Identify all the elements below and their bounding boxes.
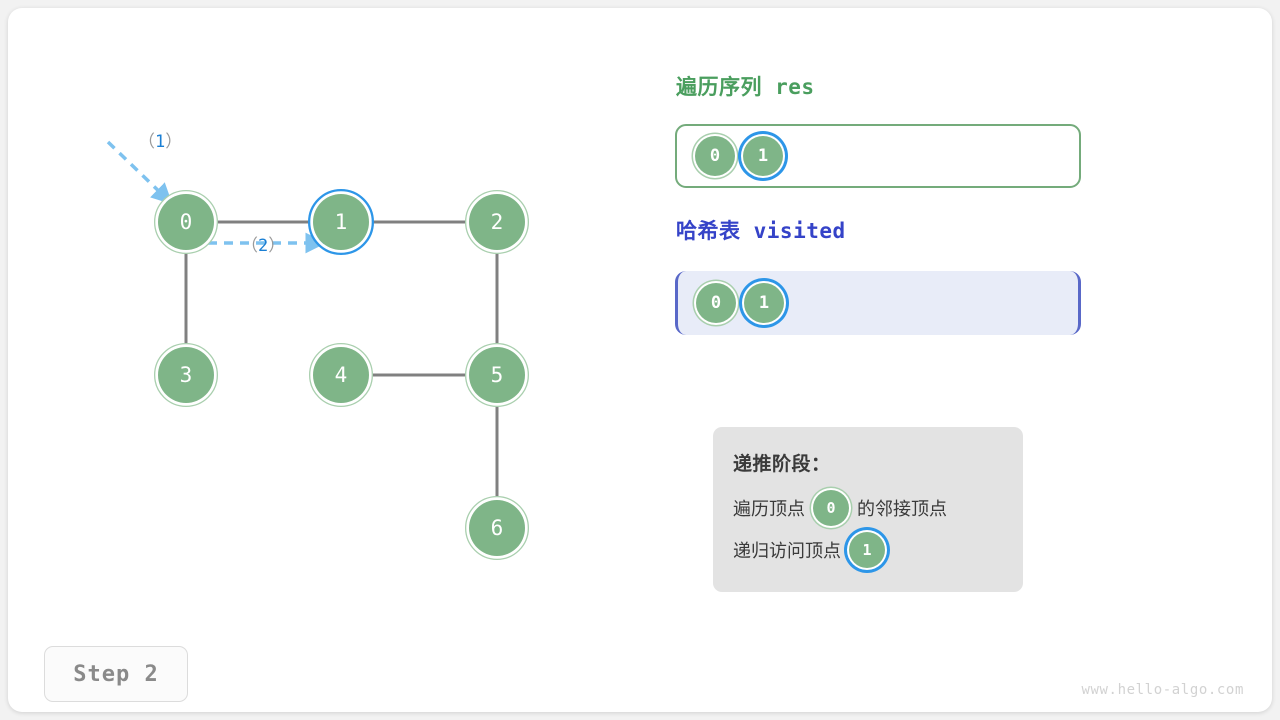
arrow-entry-label: （1）: [138, 132, 182, 152]
graph-node-1: 1: [310, 191, 373, 254]
visited-panel-title: 哈希表 visited: [676, 215, 846, 245]
graph-node-4-label: 4: [335, 363, 348, 387]
visited-item-1: 1: [744, 283, 784, 323]
explanation-line-2: 递归访问顶点 1: [733, 532, 1001, 568]
res-item-0: 0: [695, 136, 735, 176]
graph-node-5-label: 5: [491, 363, 504, 387]
graph-node-5: 5: [466, 344, 528, 406]
graph-diagram: （1）（2） 0123456: [8, 8, 668, 712]
graph-node-3-label: 3: [180, 363, 193, 387]
explanation-line-2-prefix: 递归访问顶点: [733, 537, 841, 563]
explanation-line-1-prefix: 遍历顶点: [733, 495, 805, 521]
graph-node-1-label: 1: [335, 210, 348, 234]
explanation-line-1: 遍历顶点 0 的邻接顶点: [733, 490, 1001, 526]
step-badge: Step 2: [44, 646, 188, 702]
res-panel-title: 遍历序列 res: [676, 71, 815, 101]
graph-node-6-label: 6: [491, 516, 504, 540]
explanation-line-1-suffix: 的邻接顶点: [857, 495, 947, 521]
graph-node-4: 4: [310, 344, 372, 406]
graph-nodes: 0123456: [155, 191, 528, 560]
graph-node-0-label: 0: [180, 210, 193, 234]
graph-node-6: 6: [466, 497, 528, 559]
graph-node-2-label: 2: [491, 210, 504, 234]
arrow-0-to-1-label: （2）: [241, 236, 285, 256]
visited-item-0: 0: [696, 283, 736, 323]
explanation-card: 递推阶段： 遍历顶点 0 的邻接顶点 递归访问顶点 1: [713, 427, 1023, 592]
visited-array-box: 01: [675, 271, 1081, 335]
illustration-canvas: （1）（2） 0123456 遍历序列 res 01 哈希表 visited 0…: [8, 8, 1272, 712]
res-array-box: 01: [675, 124, 1081, 188]
graph-node-3: 3: [155, 344, 217, 406]
graph-node-2: 2: [466, 191, 528, 253]
explanation-heading: 递推阶段：: [733, 449, 1001, 476]
watermark: www.hello-algo.com: [1081, 682, 1244, 698]
explanation-chip-0: 0: [813, 490, 849, 526]
graph-node-0: 0: [155, 191, 217, 253]
res-item-1: 1: [743, 136, 783, 176]
explanation-chip-1: 1: [849, 532, 885, 568]
